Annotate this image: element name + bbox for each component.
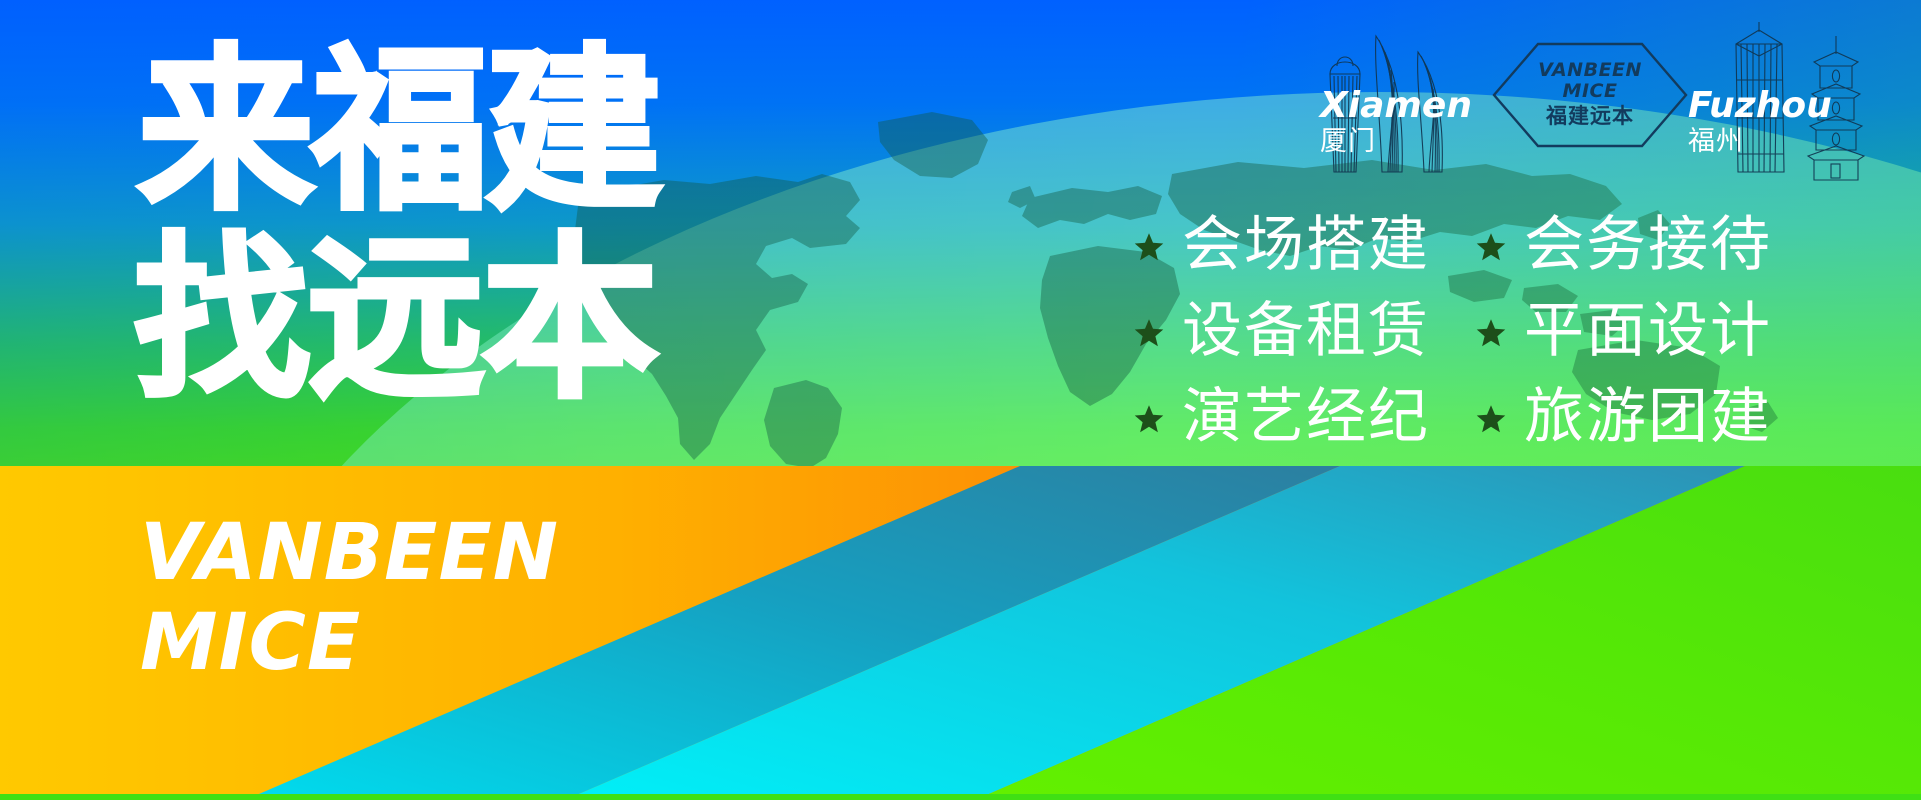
service-item: 演艺经纪 [1134, 380, 1430, 454]
star-icon [1476, 318, 1506, 348]
city-logo-strip: Xiamen 厦门 VANBEEN MICE 福建远本 [1300, 8, 1920, 178]
star-icon [1134, 404, 1164, 434]
headline-line-1: 来福建 [138, 38, 738, 226]
star-icon [1134, 318, 1164, 348]
star-icon [1476, 404, 1506, 434]
vanbeen-hexagon-badge: VANBEEN MICE 福建远本 [1490, 40, 1690, 150]
city-label-fuzhou: Fuzhou 福州 [1688, 88, 1832, 155]
service-label: 平面设计 [1524, 294, 1772, 368]
headline: 来福建 找远本 [138, 38, 738, 414]
vanbeen-wordmark: VANBEEN MICE [140, 514, 559, 682]
service-item: 平面设计 [1476, 294, 1772, 368]
wordmark-line-1: VANBEEN [140, 514, 559, 592]
wordmark-line-2: MICE [140, 604, 559, 682]
city-name-cn: 福州 [1688, 128, 1832, 155]
city-name-en: Fuzhou [1688, 88, 1832, 124]
banner-main-area: 来福建 找远本 会场搭建 会务接待 设备租赁 [0, 0, 1921, 466]
city-name-en: Xiamen [1320, 88, 1472, 124]
star-icon [1134, 232, 1164, 262]
bottom-accent-strip [0, 794, 1921, 800]
service-label: 会场搭建 [1182, 208, 1430, 282]
service-label: 旅游团建 [1524, 380, 1772, 454]
hexagon-badge-text: VANBEEN MICE 福建远本 [1490, 61, 1690, 127]
service-item: 旅游团建 [1476, 380, 1772, 454]
badge-cn-line: 福建远本 [1490, 106, 1690, 127]
service-list: 会场搭建 会务接待 设备租赁 平面设计 [1134, 208, 1772, 454]
city-name-cn: 厦门 [1320, 128, 1472, 155]
service-item: 会场搭建 [1134, 208, 1430, 282]
service-item: 设备租赁 [1134, 294, 1430, 368]
headline-line-2: 找远本 [134, 226, 738, 414]
service-label: 设备租赁 [1182, 294, 1430, 368]
badge-en-line-1: VANBEEN [1490, 61, 1690, 80]
badge-en-line-2: MICE [1490, 82, 1690, 101]
promo-banner: 来福建 找远本 会场搭建 会务接待 设备租赁 [0, 0, 1921, 800]
star-icon [1476, 232, 1506, 262]
service-label: 会务接待 [1524, 208, 1772, 282]
service-label: 演艺经纪 [1182, 380, 1430, 454]
service-item: 会务接待 [1476, 208, 1772, 282]
banner-bottom-bar: VANBEEN MICE [0, 466, 1921, 800]
city-label-xiamen: Xiamen 厦门 [1320, 88, 1472, 155]
